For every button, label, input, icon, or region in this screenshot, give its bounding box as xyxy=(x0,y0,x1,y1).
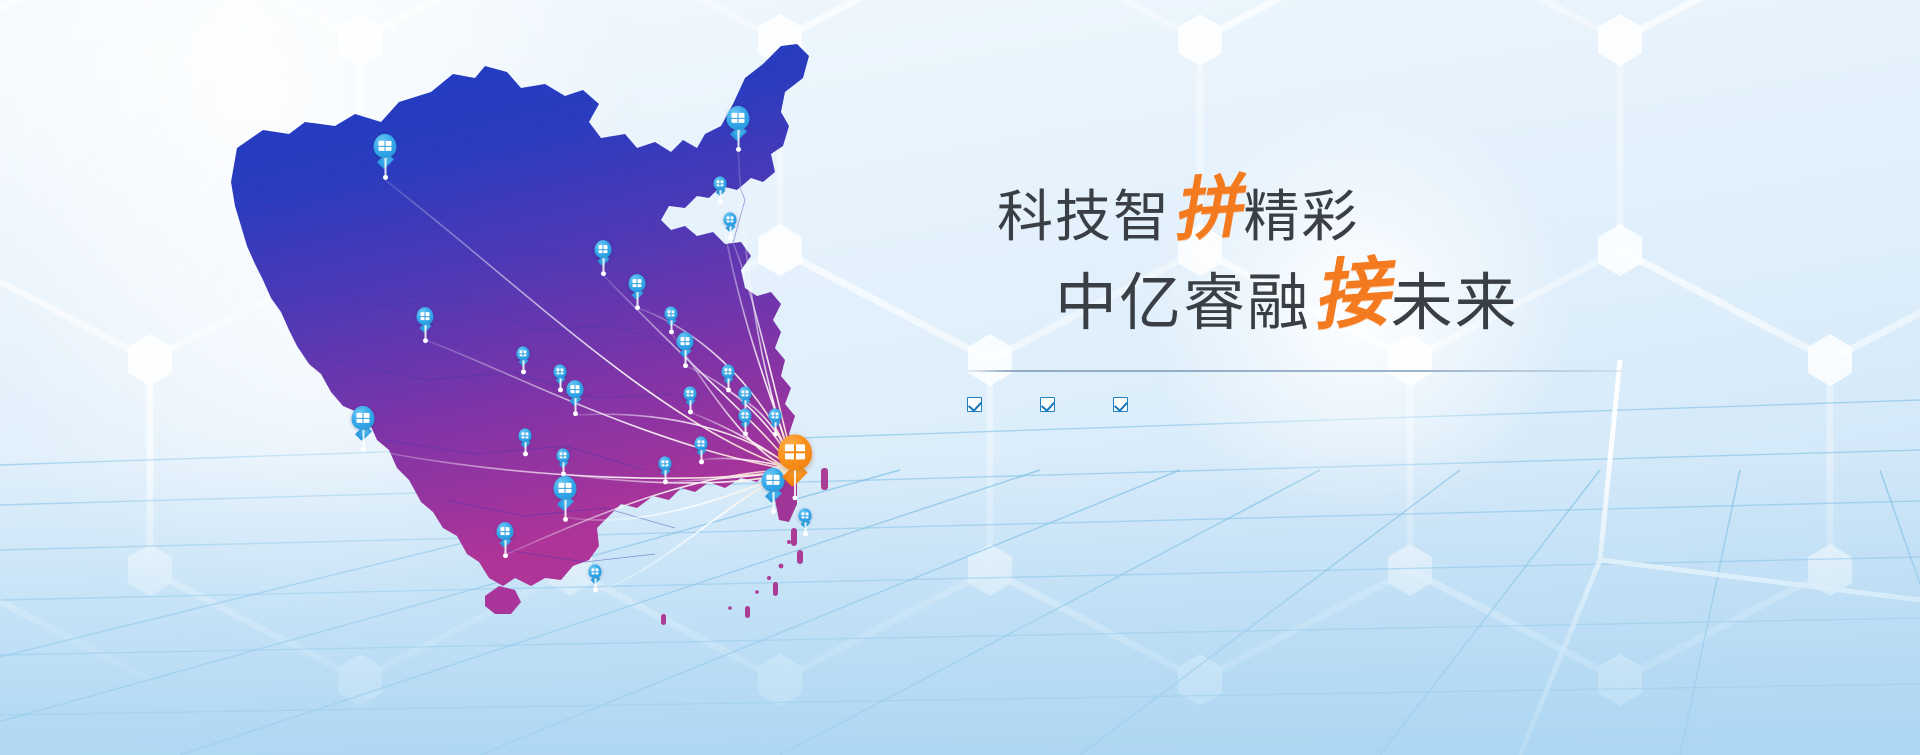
window-grid-icon xyxy=(500,527,510,534)
window-grid-icon xyxy=(741,412,748,418)
checkbox-checked-icon xyxy=(967,397,982,412)
headline-2-prefix: 中亿睿融 xyxy=(1055,269,1311,338)
feature-item[interactable] xyxy=(967,397,988,412)
window-grid-icon xyxy=(556,368,563,374)
headline-1-prefix: 科技智 xyxy=(997,185,1171,248)
window-grid-icon xyxy=(726,216,733,222)
window-grid-icon xyxy=(741,390,748,396)
headline-2-accent: 接 xyxy=(1310,249,1391,339)
window-grid-icon xyxy=(801,512,808,518)
branch-marker[interactable] xyxy=(799,508,812,522)
branch-marker[interactable] xyxy=(762,468,785,492)
branch-marker[interactable] xyxy=(374,134,397,158)
divider-line xyxy=(967,370,1622,372)
branch-marker[interactable] xyxy=(352,406,375,430)
branch-marker[interactable] xyxy=(724,212,737,226)
branch-marker[interactable] xyxy=(497,522,514,540)
branch-marker[interactable] xyxy=(739,408,752,422)
window-grid-icon xyxy=(598,245,608,252)
window-grid-icon xyxy=(680,337,690,344)
window-grid-icon xyxy=(420,312,430,319)
headline-1-accent: 拼 xyxy=(1170,169,1243,250)
hero-banner: 科技智拼精彩 中亿睿融接未来 xyxy=(0,0,1920,755)
window-grid-icon xyxy=(519,350,526,356)
branch-marker[interactable] xyxy=(727,106,750,130)
window-grid-icon xyxy=(686,390,693,396)
branch-marker[interactable] xyxy=(659,456,672,470)
branch-marker[interactable] xyxy=(554,476,577,500)
window-grid-icon xyxy=(570,385,580,392)
checkbox-checked-icon xyxy=(1113,397,1128,412)
window-grid-icon xyxy=(697,440,704,446)
window-grid-icon xyxy=(559,483,572,493)
branch-marker[interactable] xyxy=(589,564,602,578)
china-map xyxy=(185,30,825,620)
window-grid-icon xyxy=(379,141,392,151)
branch-marker[interactable] xyxy=(695,436,708,450)
branch-marker[interactable] xyxy=(557,448,570,462)
checkbox-checked-icon xyxy=(1040,397,1055,412)
headline-line-1: 科技智拼精彩 xyxy=(955,175,1755,252)
branch-marker[interactable] xyxy=(517,346,530,360)
branch-marker[interactable] xyxy=(684,386,697,400)
window-grid-icon xyxy=(559,452,566,458)
headline-2-suffix: 未来 xyxy=(1391,269,1519,338)
headquarters-marker[interactable] xyxy=(778,434,812,470)
banner-copy: 科技智拼精彩 中亿睿融接未来 xyxy=(955,175,1755,412)
window-grid-icon xyxy=(521,432,528,438)
branch-marker[interactable] xyxy=(567,380,584,398)
branch-marker[interactable] xyxy=(677,332,694,350)
feature-item[interactable] xyxy=(1113,397,1134,412)
headline-1-suffix: 精彩 xyxy=(1243,185,1359,248)
feature-list xyxy=(967,397,1755,412)
window-grid-icon xyxy=(667,310,674,316)
branch-marker[interactable] xyxy=(665,306,678,320)
window-grid-icon xyxy=(661,460,668,466)
branch-marker[interactable] xyxy=(769,408,782,422)
window-grid-icon xyxy=(591,568,598,574)
branch-marker[interactable] xyxy=(739,386,752,400)
window-grid-icon xyxy=(632,279,642,286)
window-grid-icon xyxy=(785,445,804,460)
window-grid-icon xyxy=(732,113,745,123)
window-grid-icon xyxy=(716,180,723,186)
window-grid-icon xyxy=(771,412,778,418)
branch-marker[interactable] xyxy=(519,428,532,442)
branch-marker[interactable] xyxy=(595,240,612,258)
branch-marker[interactable] xyxy=(554,364,567,378)
branch-marker[interactable] xyxy=(722,364,735,378)
window-grid-icon xyxy=(724,368,731,374)
feature-item[interactable] xyxy=(1040,397,1061,412)
window-grid-icon xyxy=(357,413,370,423)
branch-marker[interactable] xyxy=(417,307,434,325)
headline-line-2: 中亿睿融接未来 xyxy=(955,256,1755,341)
branch-marker[interactable] xyxy=(714,176,727,190)
branch-marker[interactable] xyxy=(629,274,646,292)
window-grid-icon xyxy=(767,475,780,485)
